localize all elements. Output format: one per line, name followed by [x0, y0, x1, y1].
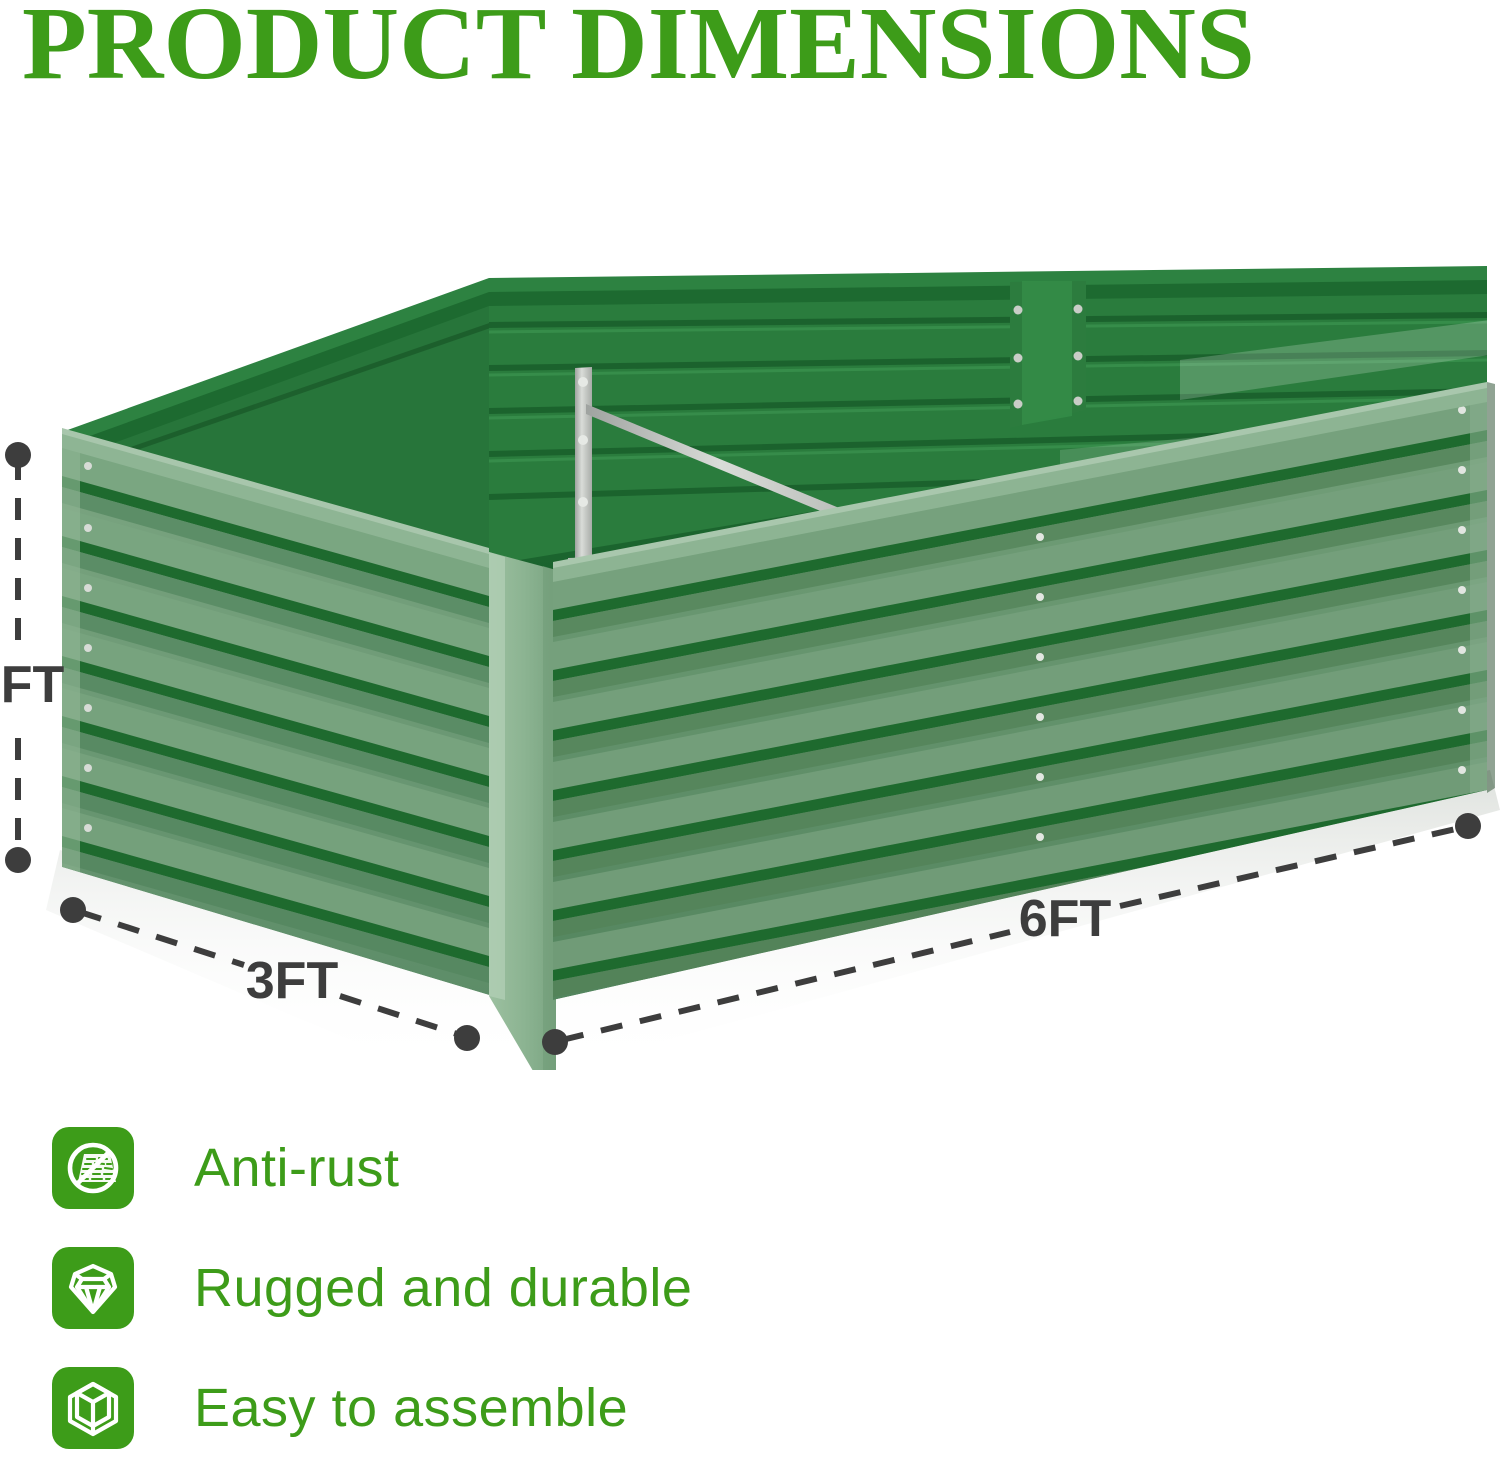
- dimension-height-2ft: 2FT: [0, 442, 64, 873]
- feature-label-rugged-durable: Rugged and durable: [194, 1261, 692, 1315]
- dimension-label-height: 2FT: [0, 656, 64, 714]
- dimension-label-length: 6FT: [1019, 890, 1112, 948]
- feature-item-rugged-durable: Rugged and durable: [52, 1228, 952, 1348]
- feature-list: Anti-rust: [52, 1108, 952, 1468]
- feature-item-anti-rust: Anti-rust: [52, 1108, 952, 1228]
- no-rust-icon: [52, 1127, 134, 1209]
- feature-label-easy-assemble: Easy to assemble: [194, 1381, 628, 1435]
- product-dimensions-infographic: PRODUCT DIMENSIONS: [0, 0, 1500, 1468]
- dimension-label-width: 3FT: [246, 952, 339, 1010]
- diamond-gem-icon: [52, 1247, 134, 1329]
- feature-item-easy-assemble: Easy to assemble: [52, 1348, 952, 1468]
- corner-post-front: [489, 552, 556, 1070]
- corner-post-far: [1010, 281, 1086, 428]
- cube-box-icon: [52, 1367, 134, 1449]
- page-title: PRODUCT DIMENSIONS: [22, 0, 1470, 94]
- right-far-edge: [1487, 382, 1495, 793]
- product-illustration: 2FT 3FT 6FT: [0, 110, 1500, 1070]
- feature-label-anti-rust: Anti-rust: [194, 1141, 400, 1195]
